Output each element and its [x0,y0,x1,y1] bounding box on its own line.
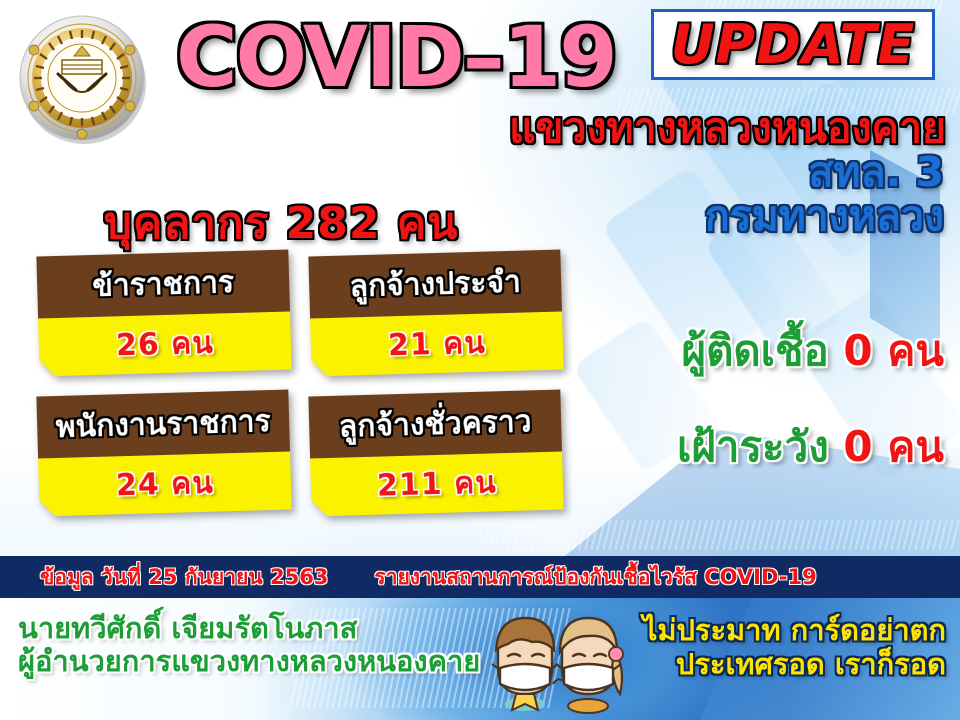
personnel-card: ข้าราชการ 26 คน [36,250,291,377]
card-label: ข้าราชการ [92,259,235,310]
director-position: ผู้อำนวยการแขวงทางหลวงหนองคาย [18,645,480,678]
card-header: ข้าราชการ [36,250,290,319]
department-line-2: กรมทางหลวง [705,194,944,238]
stat-unit: คน [887,422,944,471]
page-title: COVID–19 [176,8,616,106]
slogan-line-2: ประเทศรอด เราก็รอด [643,648,946,682]
stat-infected: ผู้ติดเชื้อ 0 คน [681,318,944,384]
card-label: ลูกจ้างชั่วคราว [338,398,532,450]
stat-monitoring: เฝ้าระวัง 0 คน [677,414,944,480]
card-header: ลูกจ้างชั่วคราว [308,390,562,459]
card-body: 21 คน [310,311,564,376]
card-body: 26 คน [38,311,292,376]
card-label: พนักงานราชการ [55,398,271,451]
card-header: พนักงานราชการ [36,390,290,459]
card-value: 24 คน [115,459,214,509]
bg-ray-lines [476,520,960,550]
stat-value: 0 [843,326,872,375]
footer-bar: ข้อมูล วันที่ 25 กันยายน 2563 รายงานสถาน… [0,556,960,598]
slogan-block: ไม่ประมาท การ์ดอย่าตก ประเทศรอด เราก็รอด [643,614,946,681]
footer-date: ข้อมูล วันที่ 25 กันยายน 2563 [40,561,328,594]
masked-children-icon [470,606,640,718]
director-name: นายทวีศักดิ์ เจียมรัตโนภาส [18,612,480,645]
covid-update-poster: COVID–19 UPDATE แขวงทางหลวงหนองคาย สทล. … [0,0,960,720]
card-value: 21 คน [387,319,486,369]
card-label: ลูกจ้างประจำ [349,258,522,310]
stat-unit: คน [887,326,944,375]
update-badge: UPDATE [651,9,935,80]
director-block: นายทวีศักดิ์ เจียมรัตโนภาส ผู้อำนวยการแข… [18,612,480,678]
stat-label: เฝ้าระวัง [677,422,829,471]
card-value: 211 คน [376,459,497,509]
stat-value: 0 [843,422,872,471]
footer-report-title: รายงานสถานการณ์ป้องกันเชื้อไวรัส COVID-1… [374,561,816,594]
personnel-headline: บุคลากร 282 คน [104,188,458,258]
card-value: 26 คน [115,319,214,369]
department-seal-icon [12,8,152,148]
card-header: ลูกจ้างประจำ [308,250,562,319]
department-line-1: สทล. 3 [705,150,944,194]
personnel-card: ลูกจ้างชั่วคราว 211 คน [308,390,563,517]
card-body: 24 คน [38,451,292,516]
stat-label: ผู้ติดเชื้อ [681,326,828,375]
personnel-card: ลูกจ้างประจำ 21 คน [308,250,563,377]
slogan-line-1: ไม่ประมาท การ์ดอย่าตก [643,614,946,648]
update-badge-label: UPDATE [671,13,916,76]
department-block: สทล. 3 กรมทางหลวง [705,150,944,239]
personnel-card: พนักงานราชการ 24 คน [36,390,291,517]
card-body: 211 คน [310,451,564,516]
